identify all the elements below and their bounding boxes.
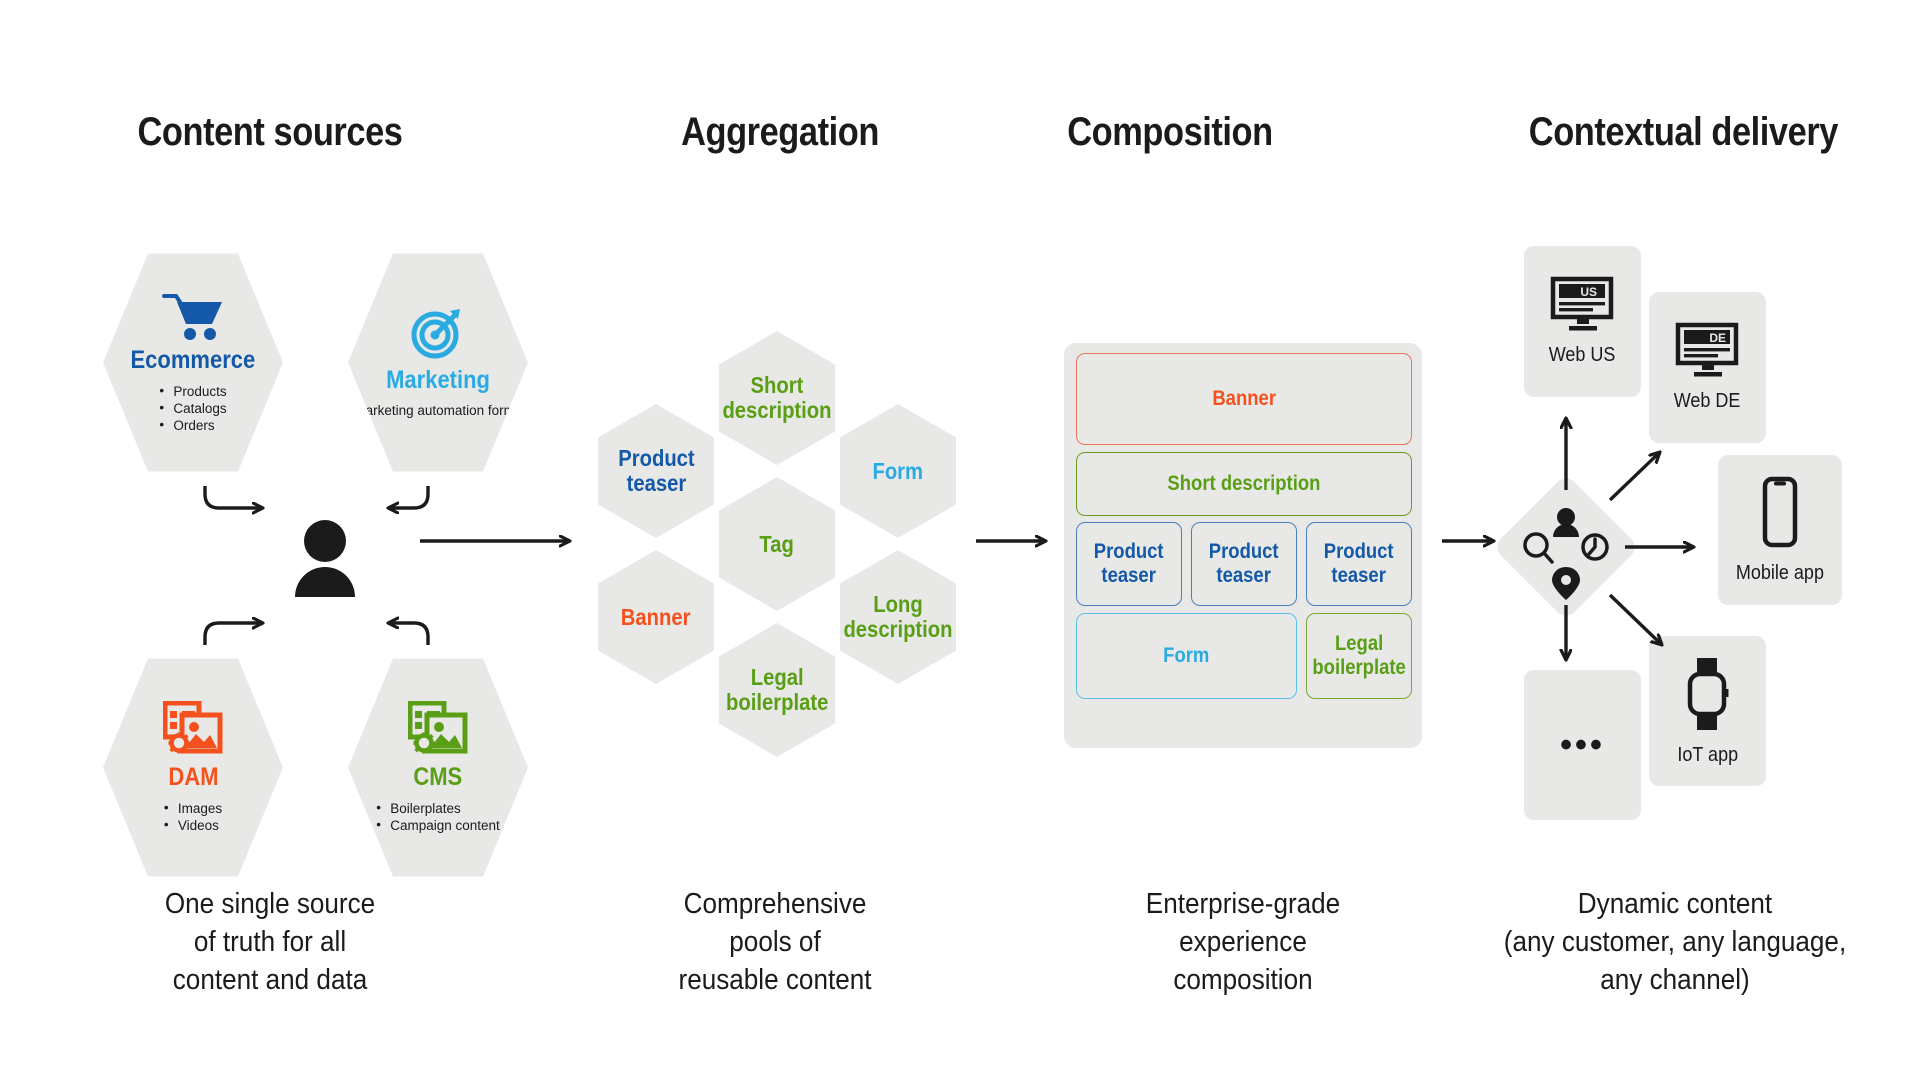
pool-label-tag: Tag [754, 532, 799, 557]
pool-hex-short-description[interactable]: Short description [719, 331, 835, 465]
channel-label-mobile-app: Mobile app [1736, 562, 1824, 585]
column-caption-composition: Enterprise-grade experience composition [1113, 885, 1374, 999]
pool-hex-form[interactable]: Form [840, 404, 956, 538]
context-icons-group [1506, 487, 1626, 607]
clock-icon [1583, 535, 1607, 559]
pool-label-short-description: Short description [717, 373, 837, 423]
composition-block-product-teaser-3[interactable]: Product teaser [1306, 522, 1412, 606]
column-caption-contextual-delivery: Dynamic content (any customer, any langu… [1477, 885, 1873, 999]
pool-label-banner: Banner [616, 605, 696, 630]
composition-label-product-teaser: Product teaser [1094, 540, 1164, 588]
channel-tile-mobile-app[interactable]: Mobile app [1718, 455, 1842, 605]
channel-label-iot-app: IoT app [1677, 744, 1738, 767]
source-label-dam: DAM [168, 763, 218, 792]
pool-hex-tag[interactable]: Tag [719, 477, 835, 611]
person-icon [1553, 508, 1579, 537]
column-caption-content-sources: One single source of truth for all conte… [140, 885, 401, 999]
channel-tile-web-us[interactable]: US Web US [1524, 246, 1641, 397]
composition-label-banner: Banner [1212, 387, 1276, 411]
pool-hex-long-description[interactable]: Long description [840, 550, 956, 684]
source-label-cms: CMS [414, 763, 463, 792]
search-icon [1525, 534, 1552, 562]
bullet-item: Products [159, 383, 226, 400]
monitor-us-icon: US [1549, 276, 1617, 332]
channel-label-web-de: Web DE [1674, 390, 1741, 413]
composition-label-legal-boilerplate: Legal boilerplate [1312, 632, 1405, 680]
composition-label-product-teaser: Product teaser [1324, 540, 1394, 588]
column-title-aggregation: Aggregation [634, 110, 926, 155]
source-hex-cms[interactable]: CMS Boilerplates Campaign content [348, 654, 528, 881]
svg-text:US: US [1580, 285, 1597, 299]
channel-label-web-us: Web US [1549, 344, 1616, 367]
bullet-item: Videos [164, 817, 222, 834]
bullet-item: Campaign content [376, 817, 500, 834]
pool-label-long-description: Long description [838, 592, 958, 642]
pool-label-legal-boilerplate: Legal boilerplate [721, 665, 834, 715]
bullet-item: Images [164, 800, 222, 817]
composition-block-legal-boilerplate[interactable]: Legal boilerplate [1306, 613, 1412, 699]
channel-tile-web-de[interactable]: DE Web DE [1649, 292, 1766, 443]
monitor-de-icon: DE [1674, 322, 1742, 378]
bullet-item: Orders [159, 417, 226, 434]
column-title-content-sources: Content sources [124, 110, 416, 155]
source-label-ecommerce: Ecommerce [131, 346, 256, 375]
column-caption-aggregation: Comprehensive pools of reusable content [645, 885, 906, 999]
pool-hex-banner[interactable]: Banner [598, 550, 714, 684]
bullet-item: Catalogs [159, 400, 226, 417]
channel-tile-iot-app[interactable]: IoT app [1649, 636, 1766, 786]
source-hex-marketing[interactable]: Marketing Marketing automation forms [348, 249, 528, 476]
diagram-canvas: Content sources Aggregation Composition … [0, 0, 1920, 1081]
smartphone-icon [1756, 476, 1804, 550]
composition-label-form: Form [1163, 644, 1209, 668]
smartwatch-icon [1682, 656, 1734, 732]
pool-hex-product-teaser[interactable]: Product teaser [598, 404, 714, 538]
pool-label-form: Form [867, 459, 928, 484]
pool-label-product-teaser: Product teaser [612, 446, 699, 496]
source-hex-ecommerce[interactable]: Ecommerce Products Catalogs Orders [103, 249, 283, 476]
source-sub-marketing: Marketing automation forms [354, 403, 521, 419]
composition-block-form[interactable]: Form [1076, 613, 1297, 699]
composition-block-banner[interactable]: Banner [1076, 353, 1412, 445]
source-hex-dam[interactable]: DAM Images Videos [103, 654, 283, 881]
column-title-composition: Composition [1024, 110, 1316, 155]
target-arrow-icon [410, 306, 466, 360]
location-pin-icon [1552, 567, 1580, 600]
composition-block-product-teaser-1[interactable]: Product teaser [1076, 522, 1182, 606]
composition-block-short-description[interactable]: Short description [1076, 452, 1412, 516]
composition-label-product-teaser: Product teaser [1209, 540, 1279, 588]
source-bullets-ecommerce: Products Catalogs Orders [159, 383, 226, 434]
bullet-item: Boilerplates [376, 800, 500, 817]
channel-tile-more[interactable]: ••• [1524, 670, 1641, 820]
shopping-cart-icon [162, 292, 224, 340]
composition-block-product-teaser-2[interactable]: Product teaser [1191, 522, 1297, 606]
media-assets-icon [163, 701, 223, 757]
column-title-contextual-delivery: Contextual delivery [1529, 110, 1821, 155]
ellipsis-icon: ••• [1560, 740, 1605, 750]
media-assets-icon [408, 701, 468, 757]
person-icon [290, 517, 360, 597]
source-bullets-dam: Images Videos [164, 800, 222, 834]
source-bullets-cms: Boilerplates Campaign content [376, 800, 500, 834]
source-label-marketing: Marketing [386, 366, 490, 395]
pool-hex-legal-boilerplate[interactable]: Legal boilerplate [719, 623, 835, 757]
svg-text:DE: DE [1709, 331, 1726, 345]
composition-label-short-description: Short description [1167, 472, 1320, 496]
